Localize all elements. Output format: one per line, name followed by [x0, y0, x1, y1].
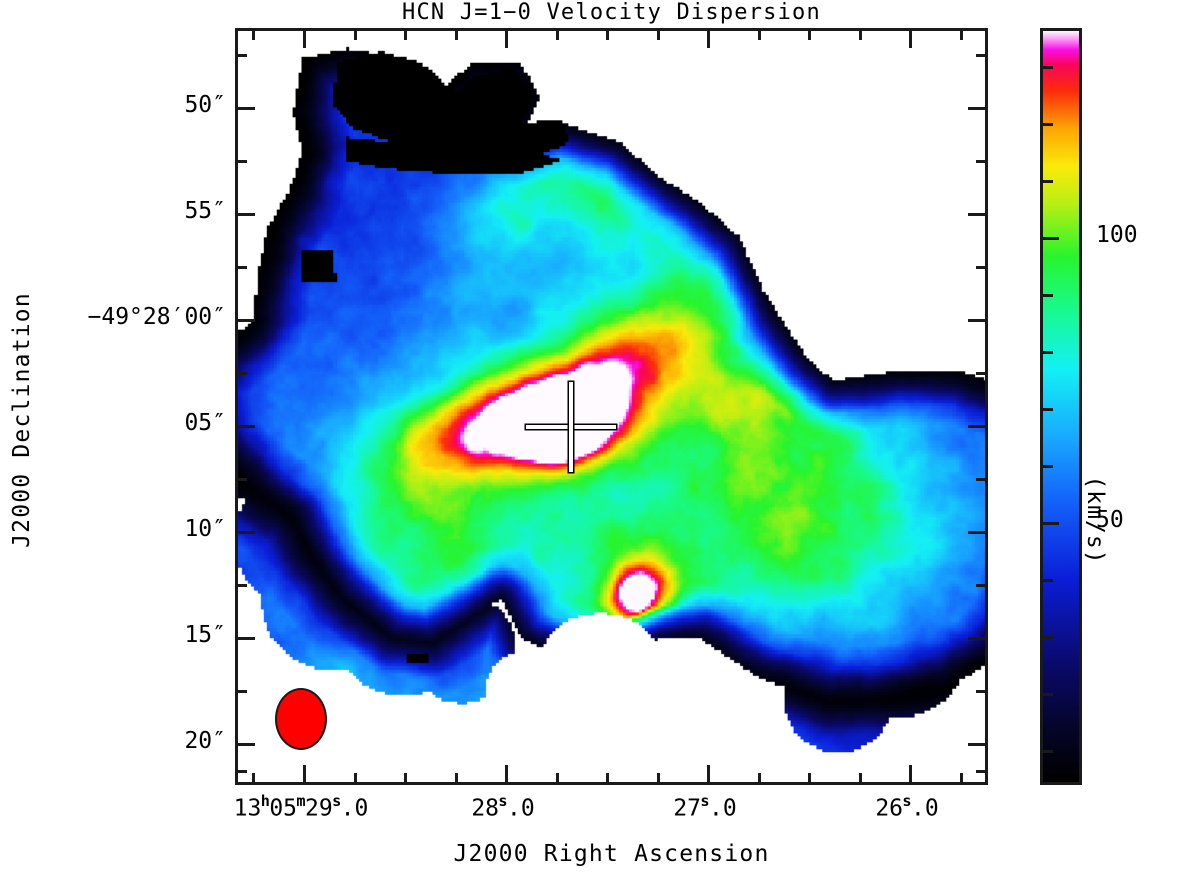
y-minor-tick-7 — [976, 770, 985, 773]
x-minor-tick-6 — [657, 31, 660, 40]
x-minor-tick-0 — [252, 31, 255, 40]
y-major-tick-3 — [238, 425, 255, 428]
colorbar-minor-tick-5 — [1043, 408, 1053, 411]
y-major-tick-2 — [968, 319, 985, 322]
x-minor-tick-4 — [556, 773, 559, 782]
x-major-tick-1 — [505, 765, 508, 782]
x-minor-tick-10 — [960, 31, 963, 40]
y-minor-tick-2 — [976, 266, 985, 269]
y-minor-tick-4 — [238, 478, 247, 481]
colorbar-minor-tick-3 — [1043, 294, 1053, 297]
x-tick-label-0: 13h05m29s.0 — [234, 792, 369, 821]
y-minor-tick-5 — [238, 584, 247, 587]
x-minor-tick-9 — [859, 773, 862, 782]
x-axis-title: J2000 Right Ascension — [235, 841, 988, 867]
x-minor-tick-9 — [859, 31, 862, 40]
y-major-tick-4 — [968, 531, 985, 534]
colorbar-minor-tick-7 — [1043, 579, 1053, 582]
x-minor-tick-1 — [354, 773, 357, 782]
x-minor-tick-7 — [758, 31, 761, 40]
colorbar-minor-tick-2 — [1043, 180, 1053, 183]
colorbar-minor-tick-6 — [1043, 465, 1053, 468]
x-major-tick-1 — [505, 31, 508, 48]
image-plot-frame[interactable] — [235, 28, 988, 785]
y-major-tick-0 — [968, 107, 985, 110]
x-minor-tick-8 — [808, 31, 811, 40]
x-minor-tick-11 — [985, 773, 988, 782]
nucleus-cross-marker-vertical — [569, 382, 573, 472]
x-minor-tick-6 — [657, 773, 660, 782]
x-tick-label-1: 28s.0 — [471, 792, 534, 821]
y-major-tick-0 — [238, 107, 255, 110]
colorbar-minor-tick-9 — [1043, 693, 1053, 696]
y-major-tick-5 — [238, 637, 255, 640]
figure-canvas: HCN J=1−0 Velocity Dispersion 13h05m29s.… — [0, 0, 1200, 874]
x-minor-tick-5 — [606, 773, 609, 782]
y-axis-title: J2000 Declination — [9, 250, 35, 590]
x-tick-label-3: 26s.0 — [875, 792, 938, 821]
x-major-tick-2 — [707, 765, 710, 782]
y-minor-tick-3 — [238, 372, 247, 375]
x-minor-tick-8 — [808, 773, 811, 782]
x-tick-label-2: 27s.0 — [673, 792, 736, 821]
x-minor-tick-4 — [556, 31, 559, 40]
x-minor-tick-3 — [455, 773, 458, 782]
y-minor-tick-1 — [238, 160, 247, 163]
colorbar-minor-tick-8 — [1043, 636, 1053, 639]
colorbar-major-tick-1 — [1043, 522, 1059, 525]
synthesized-beam-ellipse — [275, 688, 327, 750]
y-minor-tick-2 — [238, 266, 247, 269]
y-major-tick-6 — [968, 743, 985, 746]
x-minor-tick-3 — [455, 31, 458, 40]
x-major-tick-3 — [909, 31, 912, 48]
y-minor-tick-6 — [976, 690, 985, 693]
x-minor-tick-2 — [404, 773, 407, 782]
y-minor-tick-0 — [238, 54, 247, 57]
y-minor-tick-0 — [976, 54, 985, 57]
y-minor-tick-3 — [976, 372, 985, 375]
y-tick-label-0: 50″ — [0, 92, 226, 118]
y-minor-tick-4 — [976, 478, 985, 481]
x-minor-tick-2 — [404, 31, 407, 40]
y-major-tick-3 — [968, 425, 985, 428]
x-minor-tick-5 — [606, 31, 609, 40]
y-major-tick-2 — [238, 319, 255, 322]
x-major-tick-0 — [303, 765, 306, 782]
colorbar-minor-tick-1 — [1043, 123, 1053, 126]
x-minor-tick-10 — [960, 773, 963, 782]
y-major-tick-6 — [238, 743, 255, 746]
y-major-tick-1 — [968, 213, 985, 216]
y-major-tick-1 — [238, 213, 255, 216]
y-tick-label-6: 20″ — [0, 728, 226, 754]
velocity-dispersion-map[interactable] — [238, 31, 985, 782]
colorbar-major-tick-0 — [1043, 237, 1059, 240]
x-minor-tick-11 — [985, 31, 988, 40]
x-major-tick-2 — [707, 31, 710, 48]
colorbar-minor-tick-4 — [1043, 351, 1053, 354]
y-major-tick-4 — [238, 531, 255, 534]
y-minor-tick-7 — [238, 770, 247, 773]
y-minor-tick-5 — [976, 584, 985, 587]
colorbar[interactable] — [1040, 28, 1082, 785]
x-minor-tick-1 — [354, 31, 357, 40]
x-major-tick-3 — [909, 765, 912, 782]
colorbar-gradient — [1043, 31, 1079, 782]
x-minor-tick-7 — [758, 773, 761, 782]
y-tick-label-5: 15″ — [0, 622, 226, 648]
colorbar-title: (km/s) — [1082, 420, 1108, 620]
colorbar-minor-tick-0 — [1043, 66, 1053, 69]
y-minor-tick-1 — [976, 160, 985, 163]
y-major-tick-5 — [968, 637, 985, 640]
y-minor-tick-6 — [238, 690, 247, 693]
x-major-tick-0 — [303, 31, 306, 48]
colorbar-minor-tick-10 — [1043, 750, 1053, 753]
x-minor-tick-0 — [252, 773, 255, 782]
y-tick-label-1: 55″ — [0, 198, 226, 224]
colorbar-label-0: 100 — [1096, 222, 1138, 248]
plot-title: HCN J=1−0 Velocity Dispersion — [235, 0, 988, 26]
